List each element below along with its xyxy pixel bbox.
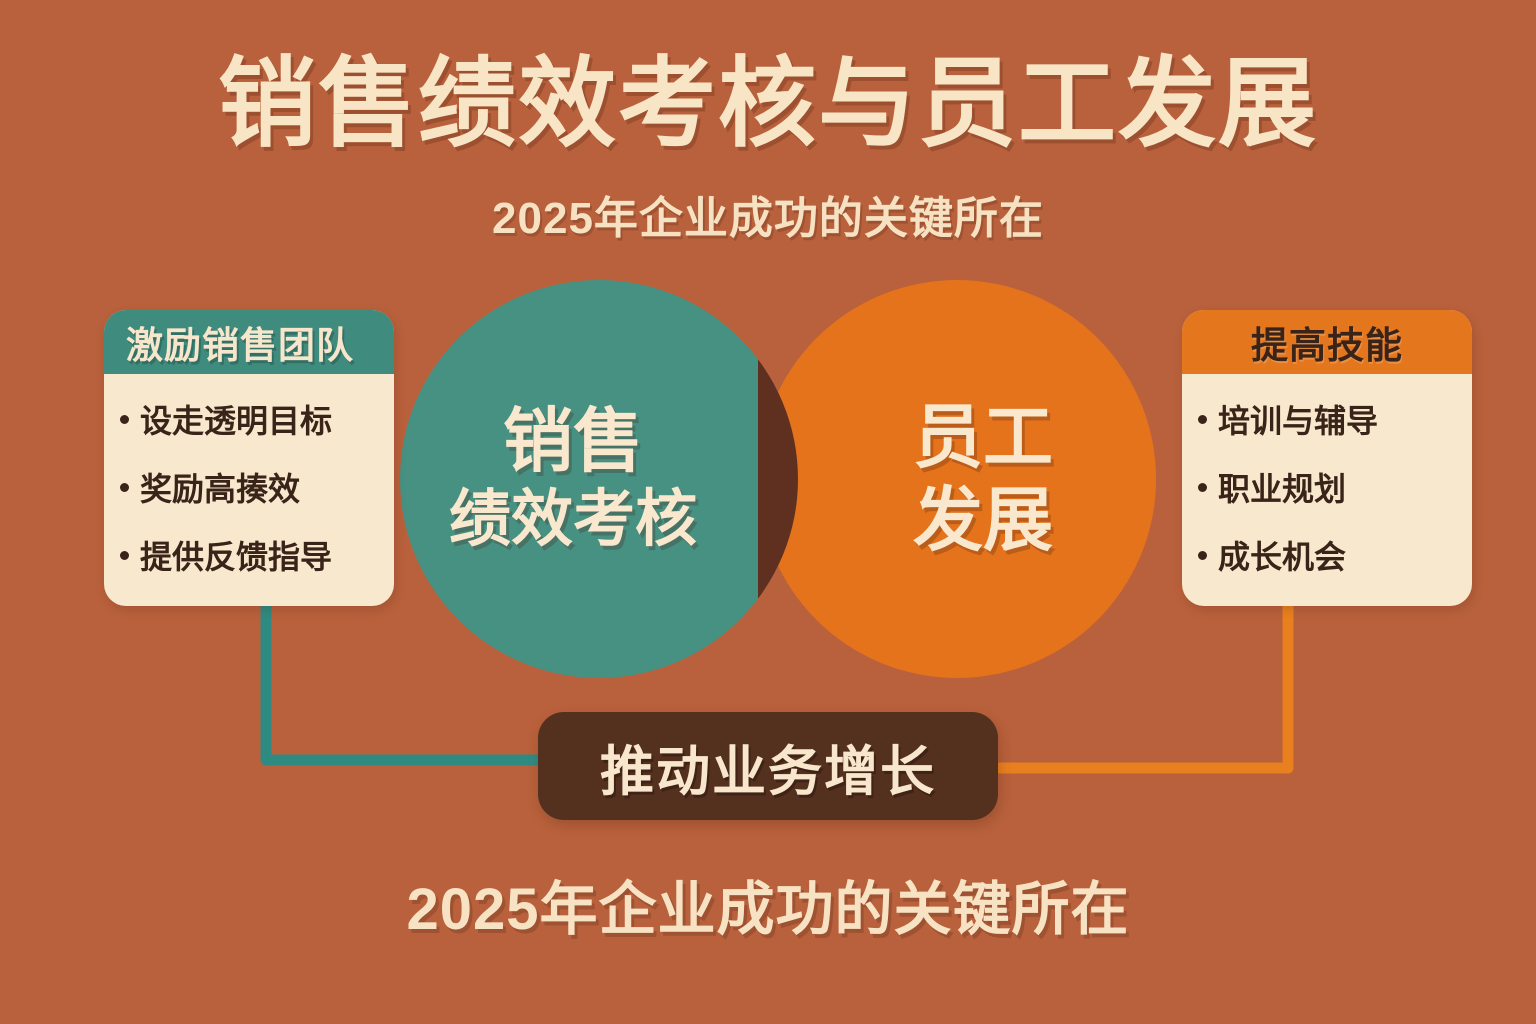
venn-circle-employee[interactable] [758,280,1156,678]
footer-caption: 2025年企业成功的关键所在 [0,862,1536,946]
list-item[interactable]: 成长机会 [1198,532,1456,578]
list-item[interactable]: 奖励高揍效 [120,464,378,510]
list-item-label: 培训与辅导 [1218,396,1378,442]
bullet-icon [120,483,129,492]
list-item[interactable]: 提供反馈指导 [120,532,378,578]
card-right-body: 培训与辅导 职业规划 成长机会 [1182,374,1472,594]
bullet-icon [1198,551,1207,560]
list-item-label: 成长机会 [1218,532,1346,578]
bullet-icon [1198,483,1207,492]
bullet-icon [120,415,129,424]
list-item-label: 提供反馈指导 [140,532,332,578]
list-item[interactable]: 培训与辅导 [1198,396,1456,442]
venn-circle-sales[interactable] [400,280,798,678]
list-item-label: 职业规划 [1218,464,1346,510]
outcome-badge-label: 推动业务增长 [600,727,936,806]
list-item[interactable]: 职业规划 [1198,464,1456,510]
bullet-icon [120,551,129,560]
card-motivate-sales-team[interactable]: 激励销售团队 设走透明目标 奖励高揍效 提供反馈指导 [104,310,394,606]
list-item-label: 设走透明目标 [140,396,332,442]
card-left-body: 设走透明目标 奖励高揍效 提供反馈指导 [104,374,394,594]
venn-overlap-region [758,280,798,678]
infographic-canvas: 销售绩效考核与员工发展 2025年企业成功的关键所在 销售 绩效考核 员工 发展… [0,0,1536,1024]
list-item[interactable]: 设走透明目标 [120,396,378,442]
outcome-badge[interactable]: 推动业务增长 [538,712,998,820]
card-left-header: 激励销售团队 [104,310,394,374]
list-item-label: 奖励高揍效 [140,464,300,510]
bullet-icon [1198,415,1207,424]
card-right-header: 提高技能 [1182,310,1472,374]
venn-diagram: 销售 绩效考核 员工 发展 [400,280,1156,680]
venn-overlap-lens [758,280,798,678]
card-improve-skills[interactable]: 提高技能 培训与辅导 职业规划 成长机会 [1182,310,1472,606]
